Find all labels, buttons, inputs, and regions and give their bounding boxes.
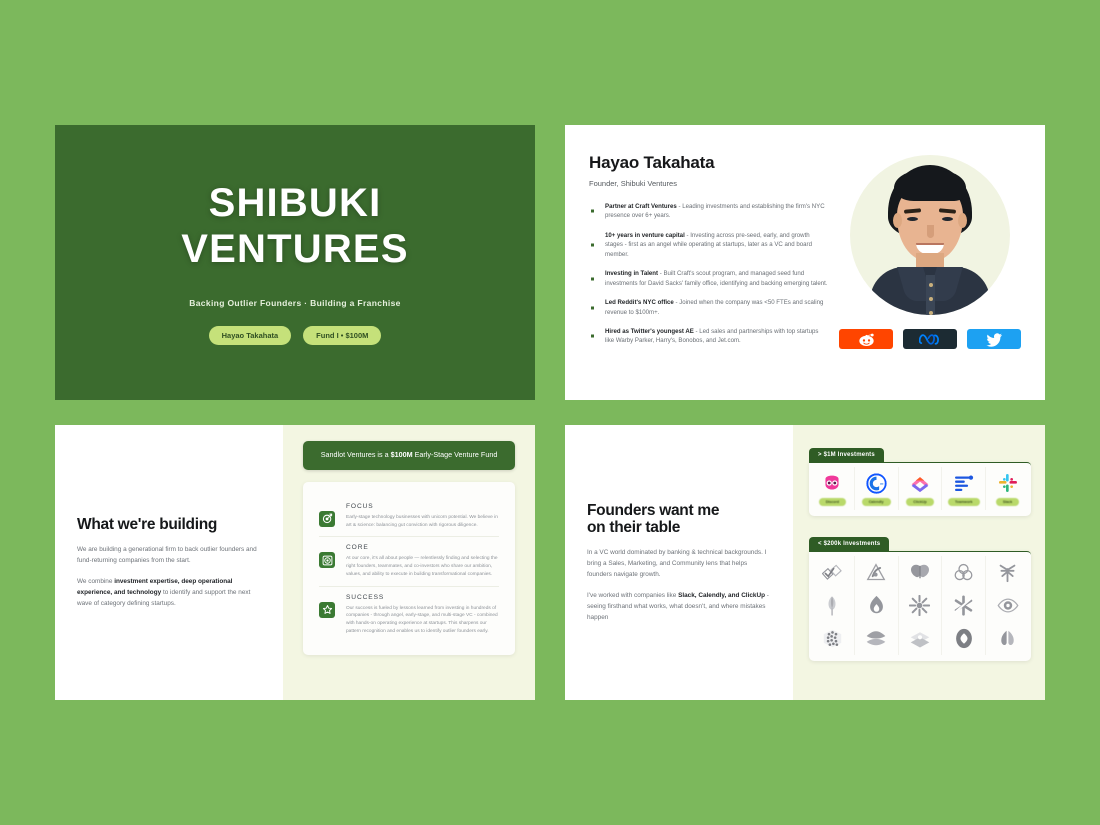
bullet-dot-icon xyxy=(591,335,594,338)
logo-cell[interactable] xyxy=(942,589,986,622)
feature-text-focus: FOCUS Early-stage technology businesses … xyxy=(346,503,499,530)
bio-bullet: Partner at Craft Ventures - Leading inve… xyxy=(589,202,829,221)
tier-2-badge: < $200k Investments xyxy=(809,537,889,551)
tagline: Backing Outlier Founders · Building a Fr… xyxy=(189,298,401,308)
portrait-nose xyxy=(927,225,934,238)
founders-paragraph-2: I've worked with companies like Slack, C… xyxy=(587,590,771,623)
bio-bullet-lead: Hired as Twitter's youngest AE xyxy=(605,328,694,335)
pill-fund-size[interactable]: Fund I • $100M xyxy=(303,326,381,345)
building-paragraph-2: We combine investment expertise, deep op… xyxy=(77,576,261,609)
bullseye-icon xyxy=(319,552,335,568)
tier-2-logo-row xyxy=(811,589,1029,622)
founders-heading-line-1: Founders want me xyxy=(587,502,771,520)
logo-cell[interactable] xyxy=(899,589,943,622)
eye-logo xyxy=(997,598,1019,613)
logo-tag: ClickUp xyxy=(906,498,933,506)
flame-logo xyxy=(868,595,885,616)
brand-name-line-2: VENTURES xyxy=(181,226,408,272)
meta-logo-chip[interactable] xyxy=(903,329,957,349)
logo-cell[interactable] xyxy=(899,556,943,589)
logo-cell[interactable] xyxy=(986,622,1029,655)
split-oval-logo xyxy=(955,628,973,649)
founders-text-column: Founders want me on their table In a VC … xyxy=(565,425,793,700)
tier-2-block: < $200k Investments xyxy=(809,528,1031,661)
logo-cell[interactable] xyxy=(855,556,899,589)
portrait-eye-right xyxy=(942,217,953,221)
sunburst-logo xyxy=(909,595,930,616)
bio-bullet: Investing in Talent - Built Craft's scou… xyxy=(589,269,829,288)
building-paragraph-1: We are building a generational firm to b… xyxy=(77,544,261,566)
logo-cell[interactable] xyxy=(899,622,943,655)
trefoil-logo xyxy=(953,563,974,582)
bio-bullet-lead: Partner at Craft Ventures xyxy=(605,203,677,210)
feature-body: Our success is fueled by lessons learned… xyxy=(346,605,499,636)
title-pill-row: Hayao Takahata Fund I • $100M xyxy=(209,326,382,345)
bio-bullet-lead: Led Reddit's NYC office xyxy=(605,299,674,306)
logo-tag: Discord xyxy=(819,498,846,506)
target-arrow-icon xyxy=(319,511,335,527)
logo-cell[interactable]: Teamwork xyxy=(942,467,986,510)
portrait-button xyxy=(929,311,933,315)
palm-burst-logo xyxy=(997,563,1018,583)
logo-cell[interactable] xyxy=(811,622,855,655)
meta-icon xyxy=(919,333,941,346)
star-icon xyxy=(319,602,335,618)
double-wing-logo xyxy=(997,629,1018,648)
bio-bullet-lead: Investing in Talent xyxy=(605,270,658,277)
pill-founder-name[interactable]: Hayao Takahata xyxy=(209,326,292,345)
founders-p2-pre: I've worked with companies like xyxy=(587,592,678,599)
slide-founders-want-me: Founders want me on their table In a VC … xyxy=(565,425,1045,700)
reddit-logo-chip[interactable] xyxy=(839,329,893,349)
tier-2-panel xyxy=(809,551,1031,661)
slack-logo xyxy=(998,472,1018,494)
triangle-swoosh-logo xyxy=(866,563,886,582)
logo-cell[interactable]: Slack xyxy=(986,467,1029,510)
building-layout: What we're building We are building a ge… xyxy=(55,425,535,700)
tier-2-logo-row xyxy=(811,622,1029,655)
logo-cell[interactable] xyxy=(811,589,855,622)
bio-bullet: Led Reddit's NYC office - Joined when th… xyxy=(589,298,829,317)
tier-1-badge: > $1M Investments xyxy=(809,448,884,462)
twitter-logo-chip[interactable] xyxy=(967,329,1021,349)
logo-cell[interactable] xyxy=(986,589,1029,622)
feature-title: FOCUS xyxy=(346,503,499,510)
bullet-dot-icon xyxy=(591,306,594,309)
feature-row-focus: FOCUS Early-stage technology businesses … xyxy=(319,496,499,537)
reddit-icon xyxy=(858,332,875,347)
feature-body: At our core, it's all about people — rel… xyxy=(346,555,499,578)
slide-what-were-building: What we're building We are building a ge… xyxy=(55,425,535,700)
logo-cell[interactable] xyxy=(942,556,986,589)
logo-cell[interactable]: Calendly xyxy=(855,467,899,510)
tier-1-panel: Discord xyxy=(809,462,1031,516)
fund-banner-pre: Sandlot Ventures is a xyxy=(321,450,391,459)
teamwork-logo xyxy=(953,472,975,494)
feature-row-core: CORE At our core, it's all about people … xyxy=(319,536,499,585)
tier-1-block: > $1M Investments xyxy=(809,439,1031,516)
logo-cell[interactable] xyxy=(986,556,1029,589)
portrait-ear-right xyxy=(958,213,967,228)
slide-canvas: SHIBUKI VENTURES Backing Outlier Founder… xyxy=(0,0,1100,825)
slide-bio: Hayao Takahata Founder, Shibuki Ventures… xyxy=(565,125,1045,400)
logo-cell[interactable] xyxy=(855,589,899,622)
bio-name: Hayao Takahata xyxy=(589,153,829,173)
founders-logo-column: > $1M Investments xyxy=(793,425,1045,700)
portrait-placket xyxy=(926,275,935,315)
bio-portrait-column xyxy=(839,153,1021,380)
logo-cell[interactable]: Discord xyxy=(811,467,855,510)
building-p2-pre: We combine xyxy=(77,578,114,585)
portrait-button xyxy=(929,283,933,287)
founders-paragraph-1: In a VC world dominated by banking & tec… xyxy=(587,547,771,580)
checks-logo xyxy=(822,564,842,582)
brand-name-line-1: SHIBUKI xyxy=(209,180,382,226)
fund-banner-post: Early-Stage Venture Fund xyxy=(413,450,498,459)
layered-lips-logo xyxy=(865,630,887,647)
bio-text-column: Hayao Takahata Founder, Shibuki Ventures… xyxy=(589,153,839,380)
logo-tag: Teamwork xyxy=(948,498,980,506)
bullet-dot-icon xyxy=(591,244,594,247)
feather-logo xyxy=(825,595,839,617)
butterfly-logo xyxy=(909,563,931,582)
bio-bullet-lead: 10+ years in venture capital xyxy=(605,232,685,239)
feature-row-success: SUCCESS Our success is fueled by lessons… xyxy=(319,586,499,643)
founders-layout: Founders want me on their table In a VC … xyxy=(565,425,1045,700)
bio-role: Founder, Shibuki Ventures xyxy=(589,179,829,188)
diamond-stack-logo xyxy=(909,630,931,648)
clickup-logo xyxy=(909,472,931,494)
feature-title: CORE xyxy=(346,544,499,551)
portrait-fringe xyxy=(894,171,966,201)
portrait-button xyxy=(929,297,933,301)
fund-banner: Sandlot Ventures is a $100M Early-Stage … xyxy=(303,441,515,470)
bullet-dot-icon xyxy=(591,277,594,280)
bio-bullet-list: Partner at Craft Ventures - Leading inve… xyxy=(589,202,829,346)
feature-card: FOCUS Early-stage technology businesses … xyxy=(303,482,515,655)
bullet-dot-icon xyxy=(591,210,594,213)
tier-1-logo-row: Discord xyxy=(811,467,1029,510)
twitter-bird-icon xyxy=(986,332,1003,347)
building-text-column: What we're building We are building a ge… xyxy=(55,425,283,700)
logo-cell[interactable] xyxy=(942,622,986,655)
bio-bullet: Hired as Twitter's youngest AE - Led sal… xyxy=(589,327,829,346)
building-card-column: Sandlot Ventures is a $100M Early-Stage … xyxy=(283,425,535,700)
logo-cell[interactable] xyxy=(811,556,855,589)
avatar xyxy=(850,155,1010,315)
social-logo-row xyxy=(839,329,1021,349)
logo-tag: Calendly xyxy=(862,498,891,506)
feature-title: SUCCESS xyxy=(346,594,499,601)
building-heading: What we're building xyxy=(77,516,261,534)
discord-logo xyxy=(821,472,843,494)
logo-cell[interactable] xyxy=(855,622,899,655)
feature-body: Early-stage technology businesses with u… xyxy=(346,514,499,530)
feature-text-success: SUCCESS Our success is fueled by lessons… xyxy=(346,594,499,636)
founders-p2-bold: Slack, Calendly, and ClickUp xyxy=(678,592,765,599)
calendly-logo xyxy=(866,472,887,494)
dotted-cube-logo xyxy=(822,628,843,649)
bio-layout: Hayao Takahata Founder, Shibuki Ventures… xyxy=(565,125,1045,400)
logo-tag: Slack xyxy=(996,498,1019,506)
portrait-ear-left xyxy=(893,213,902,228)
feature-text-core: CORE At our core, it's all about people … xyxy=(346,544,499,578)
tier-2-logo-row xyxy=(811,556,1029,589)
fund-banner-amount: $100M xyxy=(391,450,413,459)
logo-cell[interactable]: ClickUp xyxy=(899,467,943,510)
bio-bullet: 10+ years in venture capital - Investing… xyxy=(589,231,829,259)
slide-title: SHIBUKI VENTURES Backing Outlier Founder… xyxy=(55,125,535,400)
portrait-eye-left xyxy=(907,217,918,221)
founders-heading-line-2: on their table xyxy=(587,519,771,537)
asterisk-slash-logo xyxy=(953,595,974,616)
